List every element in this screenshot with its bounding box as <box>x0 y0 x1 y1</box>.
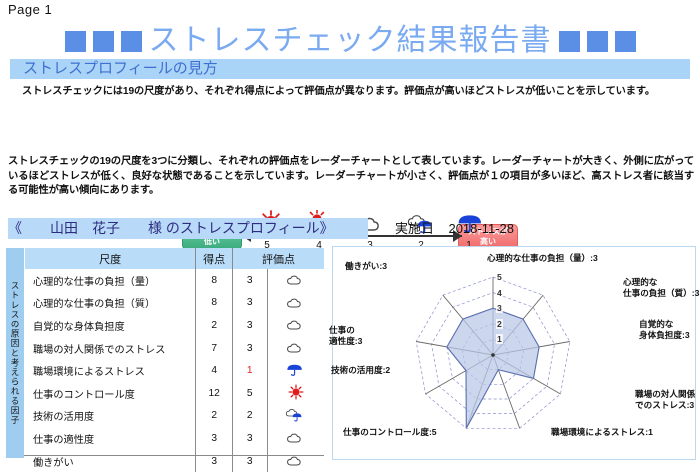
title-square-icon <box>93 31 114 52</box>
table-row: 職場の対人関係でのストレス73 <box>25 337 324 360</box>
radar-axis-label: 職場の対人関係でのストレス:3 <box>635 389 695 410</box>
title-square-icon <box>587 31 608 52</box>
cell-score: 7 <box>196 337 233 360</box>
profile-name-line: 《 山田 花子 様 のストレスプロフィール》 <box>8 218 368 239</box>
radar-axis-label: 心理的な仕事の負担（質）:3 <box>623 277 699 298</box>
section-heading-text: ストレスプロフィールの見方 <box>23 59 218 79</box>
cloud-icon <box>283 346 309 357</box>
cell-scale-name: 職場環境によるストレス <box>25 359 196 382</box>
cloud-icon <box>283 459 309 470</box>
cell-scale-name: 自覚的な身体負担度 <box>25 314 196 337</box>
table-row: 仕事のコントロール度125 <box>25 382 324 405</box>
cell-rating-icon <box>267 450 324 472</box>
cell-scale-name: 職場の対人関係でのストレス <box>25 337 196 360</box>
cloud-icon <box>283 301 309 312</box>
cell-score: 8 <box>196 292 233 315</box>
table-row: 技術の活用度22 <box>25 405 324 428</box>
page-label: Page 1 <box>8 2 52 17</box>
cell-score: 2 <box>196 405 233 428</box>
cell-rating: 1 <box>232 359 267 382</box>
date-value: 2018-11-28 <box>448 221 514 236</box>
header-score: 得点 <box>196 248 233 269</box>
header-scale: 尺度 <box>25 248 196 269</box>
cell-rating: 3 <box>232 292 267 315</box>
cloud-icon <box>283 436 309 447</box>
title-square-icon <box>65 31 86 52</box>
cell-scale-name: 技術の活用度 <box>25 405 196 428</box>
radar-chart-panel: 12345心理的な仕事の負担（量）:3心理的な仕事の負担（質）:3自覚的な身体負… <box>332 246 696 460</box>
cell-score: 3 <box>196 450 233 472</box>
title-text: ストレスチェック結果報告書 <box>149 26 552 56</box>
table-row: 職場環境によるストレス41 <box>25 359 324 382</box>
cell-score: 8 <box>196 269 233 292</box>
radar-axis-label: 技術の活用度:2 <box>331 365 390 376</box>
stress-scale: ストレスが 低い ストレスが 高い <box>0 104 700 150</box>
section-lead-text: ストレスチェックには19の尺度があり、それぞれ得点によって評価点が異なります。評… <box>22 82 692 97</box>
cloud-umbrella-icon <box>283 414 309 425</box>
table-header-row: 尺度 得点 評価点 <box>25 248 324 269</box>
cell-rating: 2 <box>232 405 267 428</box>
cell-rating-icon <box>267 359 324 382</box>
cell-rating: 3 <box>232 314 267 337</box>
description-paragraph: ストレスチェックの19の尺度を3つに分類し、それぞれの評価点をレーダーチャートと… <box>8 155 694 199</box>
cell-scale-name: 仕事の適性度 <box>25 427 196 450</box>
radar-tick-5: 5 <box>496 272 503 282</box>
cell-rating: 3 <box>232 450 267 472</box>
radar-axis-label: 職場環境によるストレス:1 <box>551 427 653 438</box>
title-square-icon <box>121 31 142 52</box>
radar-tick-2: 2 <box>496 319 503 329</box>
cell-rating-icon <box>267 292 324 315</box>
table-row: 自覚的な身体負担度23 <box>25 314 324 337</box>
cell-rating: 3 <box>232 427 267 450</box>
title-square-group-right <box>559 31 636 52</box>
title-square-icon <box>615 31 636 52</box>
stress-factor-table: ストレスの原因と考えられる因子 尺度 得点 評価点 心理的な仕事の負担（量）83… <box>6 248 324 458</box>
cell-rating: 5 <box>232 382 267 405</box>
radar-tick-1: 1 <box>496 334 503 344</box>
date-label: 実施日 <box>395 221 434 236</box>
cell-rating-icon <box>267 427 324 450</box>
title-square-group-left <box>65 31 142 52</box>
table-vertical-label: ストレスの原因と考えられる因子 <box>6 248 25 458</box>
report-title: ストレスチェック結果報告書 <box>0 24 700 58</box>
cell-scale-name: 仕事のコントロール度 <box>25 382 196 405</box>
cell-scale-name: 心理的な仕事の負担（質） <box>25 292 196 315</box>
table-row: 働きがい33 <box>25 450 324 472</box>
table-body: 心理的な仕事の負担（量）83心理的な仕事の負担（質）83自覚的な身体負担度23職… <box>25 269 324 472</box>
implementation-date: 実施日 2018-11-28 <box>395 218 514 239</box>
cell-scale-name: 心理的な仕事の負担（量） <box>25 269 196 292</box>
cell-score: 4 <box>196 359 233 382</box>
table-bottom-border <box>24 455 324 456</box>
radar-axis-label: 仕事のコントロール度:5 <box>343 427 437 438</box>
sun-icon <box>286 392 306 403</box>
section-heading-bar: ストレスプロフィールの見方 <box>10 59 690 79</box>
table-row: 心理的な仕事の負担（質）83 <box>25 292 324 315</box>
umbrella-icon <box>285 369 307 380</box>
cell-rating-icon <box>267 382 324 405</box>
cell-rating-icon <box>267 269 324 292</box>
cloud-icon <box>283 323 309 334</box>
radar-axis-label: 働きがい:3 <box>345 261 387 272</box>
cell-rating-icon <box>267 337 324 360</box>
radar-tick-4: 4 <box>496 288 503 298</box>
cell-score: 3 <box>196 427 233 450</box>
cell-rating: 3 <box>232 337 267 360</box>
radar-axis-label: 自覚的な身体負担度:3 <box>639 319 690 340</box>
radar-tick-3: 3 <box>496 303 503 313</box>
cell-rating-icon <box>267 314 324 337</box>
scale-score-table: 尺度 得点 評価点 心理的な仕事の負担（量）83心理的な仕事の負担（質）83自覚… <box>25 248 324 472</box>
radar-axis-label: 心理的な仕事の負担（量）:3 <box>487 253 598 264</box>
cell-rating-icon <box>267 405 324 428</box>
header-rating: 評価点 <box>232 248 324 269</box>
cell-score: 12 <box>196 382 233 405</box>
cell-rating: 3 <box>232 269 267 292</box>
cell-scale-name: 働きがい <box>25 450 196 472</box>
table-row: 仕事の適性度33 <box>25 427 324 450</box>
cell-score: 2 <box>196 314 233 337</box>
table-row: 心理的な仕事の負担（量）83 <box>25 269 324 292</box>
title-square-icon <box>559 31 580 52</box>
radar-axis-label: 仕事の適性度:3 <box>329 325 362 346</box>
cloud-icon <box>283 278 309 289</box>
